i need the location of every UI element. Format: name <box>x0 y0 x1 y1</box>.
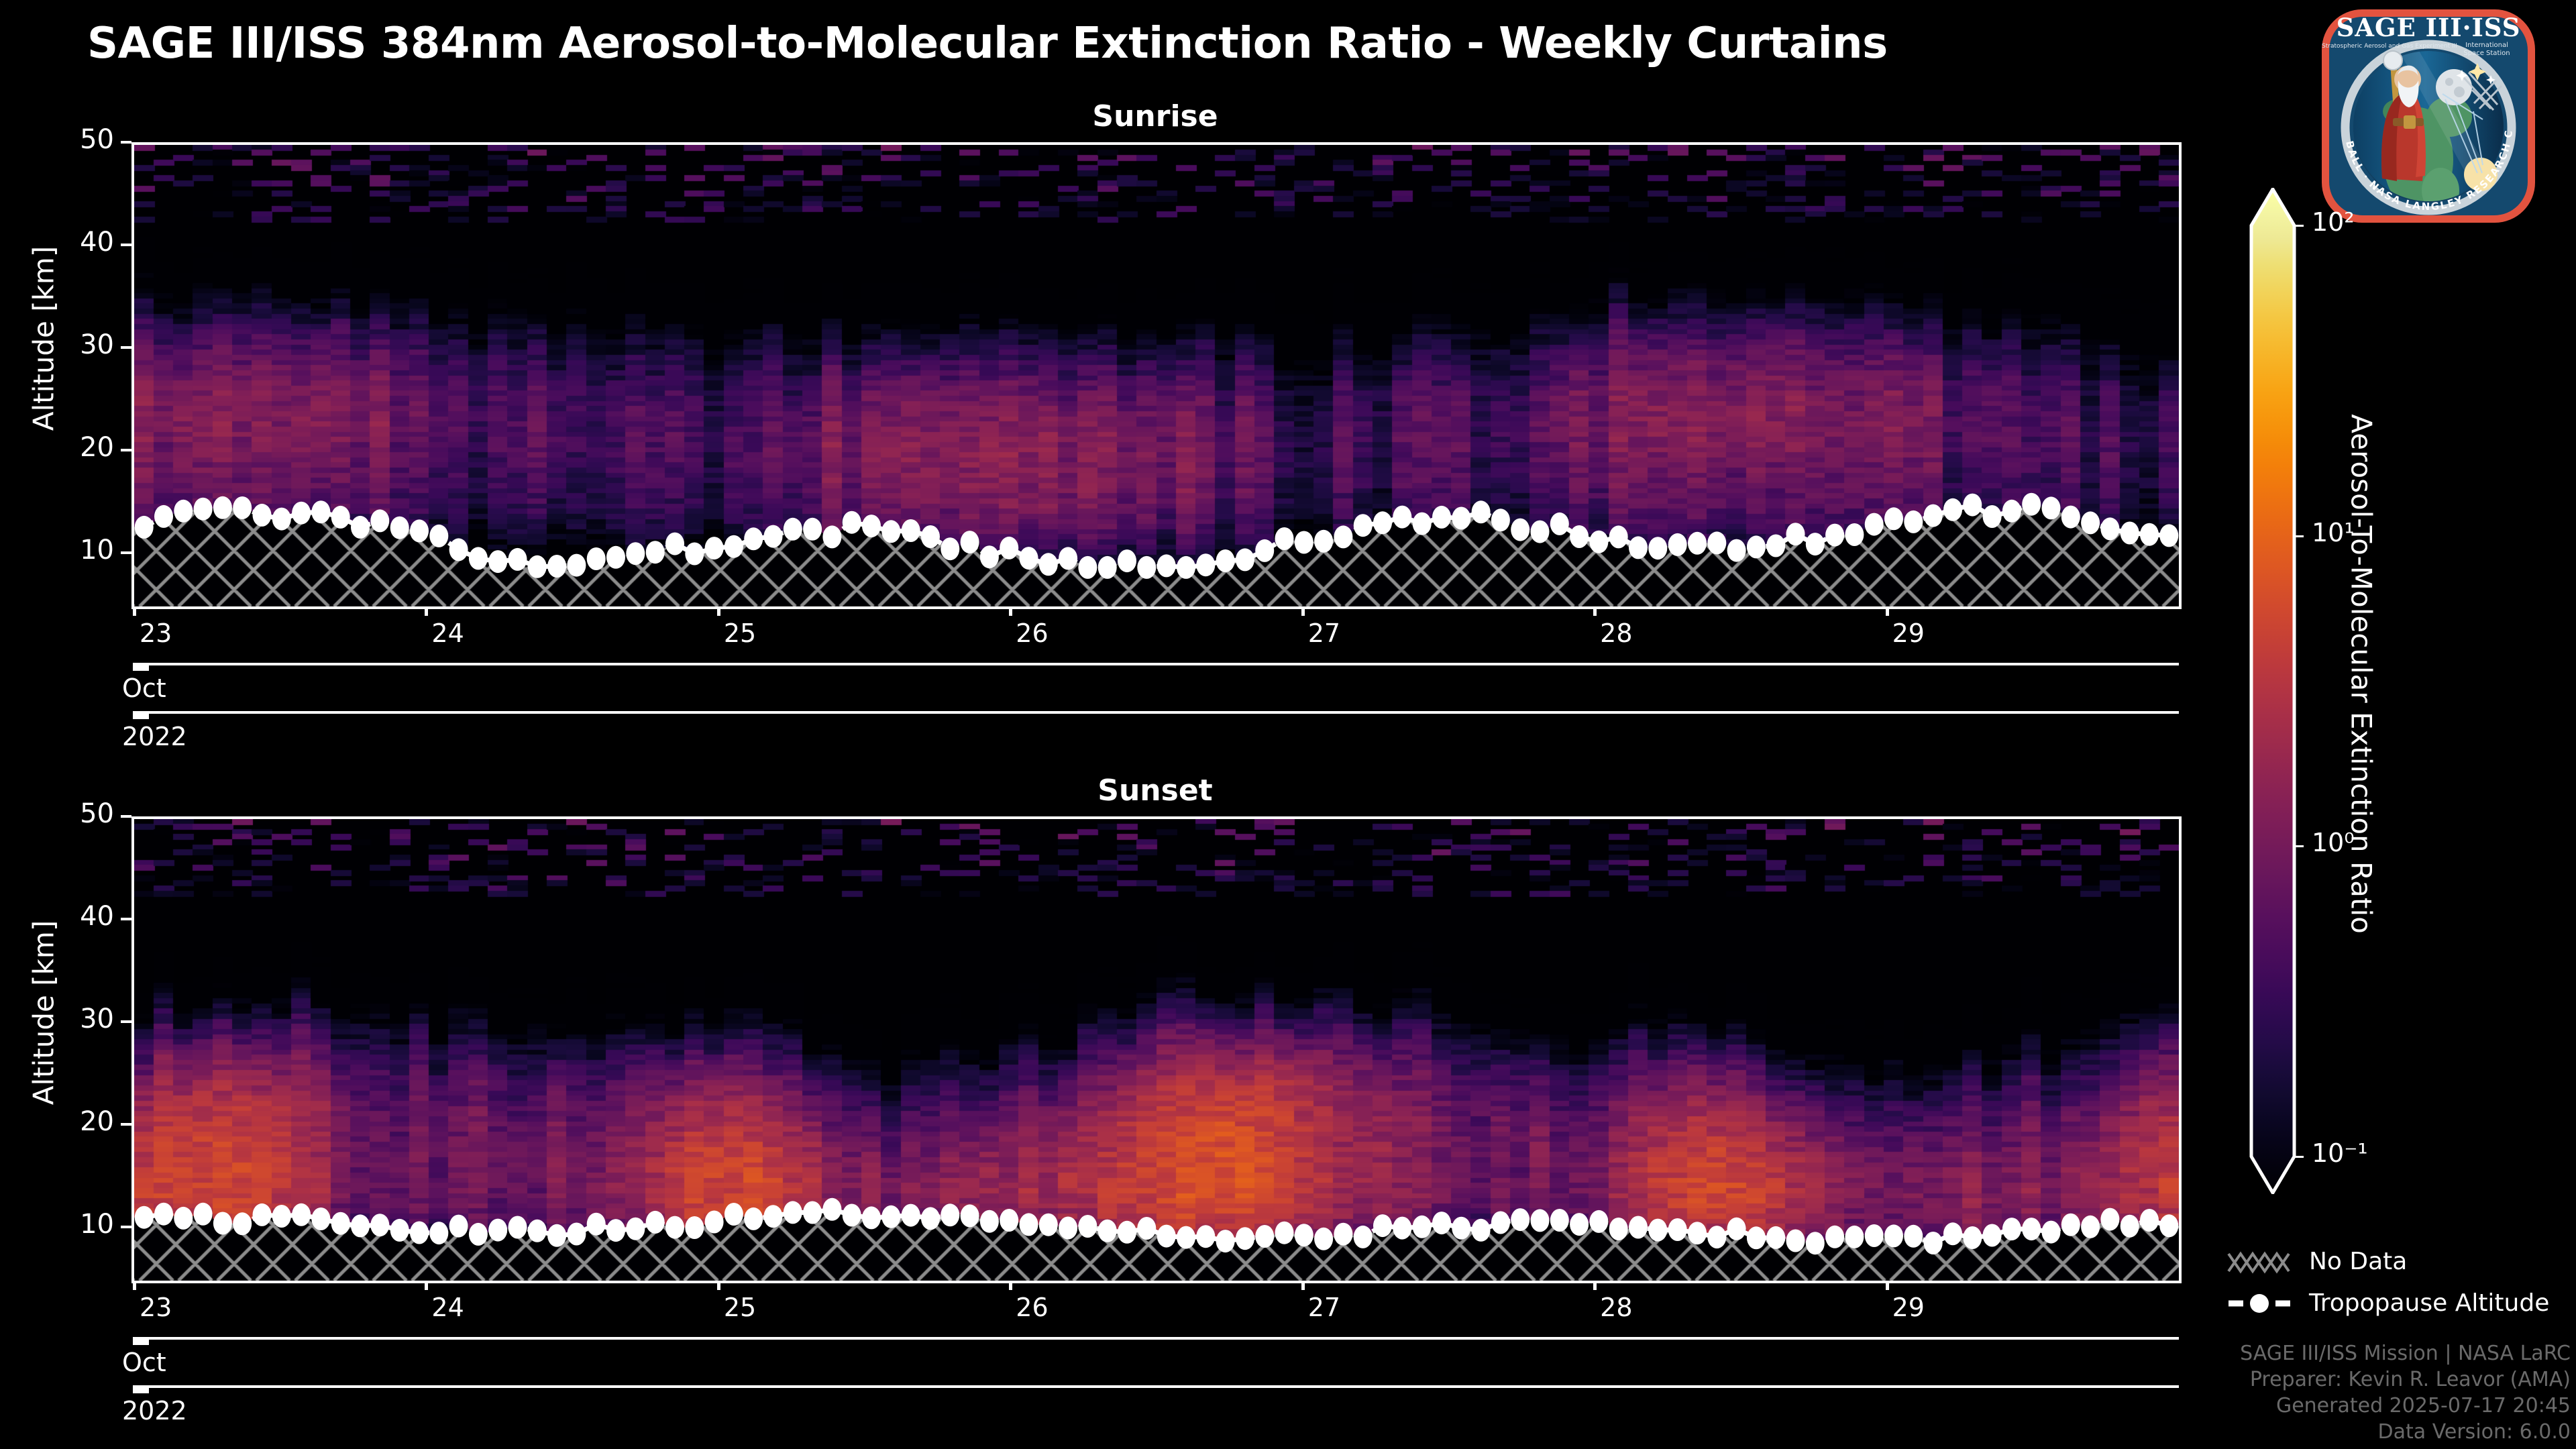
tropopause-marker <box>253 504 272 527</box>
tropopause-marker <box>2140 523 2159 546</box>
tropopause-marker <box>1550 1209 1569 1232</box>
tropopause-marker <box>469 1223 488 1246</box>
tropopause-marker <box>410 519 429 542</box>
x-tick-label-sunset-27: 27 <box>1308 1293 1340 1322</box>
tropopause-marker <box>1472 500 1491 523</box>
tropopause-marker <box>272 508 291 531</box>
x-tick-label-sunrise-25: 25 <box>724 619 756 648</box>
legend-item-no-data[interactable]: No Data <box>2227 1248 2407 1275</box>
y-tick-label-sunset-20: 20 <box>47 1106 114 1137</box>
tropopause-marker <box>784 518 802 541</box>
tropopause-marker <box>1314 1228 1333 1250</box>
tropopause-marker <box>705 537 724 559</box>
tropopause-marker <box>1531 1209 1550 1232</box>
tropopause-marker <box>1432 1212 1451 1234</box>
tropopause-marker <box>194 1203 213 1226</box>
year-band-label-sunset: 2022 <box>122 1396 187 1426</box>
tropopause-marker <box>233 1212 252 1235</box>
x-tick-mark-sunset-27 <box>1301 1281 1305 1290</box>
x-tick-mark-sunrise-26 <box>1009 606 1012 616</box>
tropopause-marker <box>1491 508 1510 531</box>
y-tick-mark-sunset-40 <box>121 918 131 920</box>
footer-line-generated: Generated 2025-07-17 20:45 <box>2240 1393 2571 1419</box>
tropopause-marker <box>1924 504 1943 527</box>
tropopause-marker <box>1747 535 1766 558</box>
tropopause-marker <box>1157 1225 1176 1248</box>
colorbar-body <box>2251 189 2294 1193</box>
legend: No Data Tropopause Altitude <box>2227 1248 2576 1335</box>
legend-label-tropopause: Tropopause Altitude <box>2309 1289 2549 1317</box>
x-tick-mark-sunrise-27 <box>1301 606 1305 616</box>
tropopause-marker <box>213 1212 232 1235</box>
tropopause-marker <box>567 554 586 577</box>
year-band-line-sunset <box>134 1385 2179 1388</box>
panel-sunset: Sunset Altitude [km] <box>0 761 2214 1311</box>
tropopause-marker <box>724 535 743 558</box>
y-tick-label-sunset-30: 30 <box>47 1004 114 1034</box>
x-tick-label-sunrise-23: 23 <box>140 619 172 648</box>
x-tick-mark-sunrise-25 <box>717 606 720 616</box>
tropopause-marker <box>1884 507 1903 530</box>
tropopause-marker <box>1491 1212 1510 1234</box>
tropopause-marker <box>1373 511 1392 534</box>
tropopause-marker <box>1039 553 1058 576</box>
tropopause-series-sunset <box>134 819 2179 1281</box>
tropopause-marker <box>1943 1222 1962 1245</box>
tropopause-marker <box>1314 530 1333 553</box>
tropopause-marker <box>1255 1225 1274 1248</box>
tropopause-marker <box>1963 494 1982 517</box>
tropopause-marker <box>1078 1215 1097 1238</box>
tropopause-marker <box>606 546 625 569</box>
footer-line-version: Data Version: 6.0.0 <box>2240 1419 2571 1445</box>
tropopause-marker <box>1963 1226 1982 1249</box>
tropopause-marker <box>1668 1218 1687 1241</box>
tropopause-marker <box>2140 1209 2159 1232</box>
tropopause-marker <box>941 537 959 560</box>
tropopause-marker <box>1118 549 1136 572</box>
tropopause-marker <box>1275 527 1294 550</box>
tropopause-marker <box>429 525 448 547</box>
tropopause-marker <box>1098 556 1117 579</box>
tropopause-marker <box>1550 513 1569 535</box>
tropopause-marker <box>1865 1224 1884 1247</box>
tropopause-marker <box>1825 1226 1844 1248</box>
tropopause-marker <box>1275 1222 1294 1244</box>
x-tick-label-sunrise-24: 24 <box>431 619 464 648</box>
tropopause-marker <box>744 1207 763 1230</box>
tropopause-marker <box>154 505 173 528</box>
tropopause-marker <box>390 517 409 539</box>
x-tick-label-sunset-24: 24 <box>431 1293 464 1322</box>
tropopause-marker <box>1589 531 1608 553</box>
tropopause-marker <box>331 1212 350 1235</box>
tropopause-marker <box>1806 533 1825 555</box>
tropopause-marker <box>941 1203 959 1226</box>
tropopause-marker <box>1196 553 1215 576</box>
tropopause-marker <box>646 1211 665 1234</box>
x-tick-mark-sunrise-29 <box>1886 606 1889 616</box>
tropopause-marker <box>1983 1224 2002 1247</box>
tropopause-marker <box>1609 525 1628 548</box>
tropopause-marker <box>587 1213 606 1236</box>
tropopause-marker <box>1000 537 1018 559</box>
tropopause-marker <box>1098 1220 1117 1242</box>
tropopause-marker <box>311 500 330 523</box>
tropopause-marker <box>449 1215 468 1238</box>
y-tick-mark-sunrise-10 <box>121 551 131 554</box>
tropopause-marker <box>2061 1214 2080 1236</box>
tropopause-marker <box>2100 517 2119 540</box>
colorbar: 10²10¹10⁰10⁻¹ Aerosol-To-Molecular Extin… <box>2234 188 2462 1194</box>
tropopause-marker <box>370 1214 389 1236</box>
tropopause-marker <box>1452 1217 1470 1240</box>
x-tick-label-sunset-23: 23 <box>140 1293 172 1322</box>
tropopause-marker <box>488 1219 507 1242</box>
tropopause-marker <box>1452 507 1470 530</box>
x-tick-label-sunset-26: 26 <box>1016 1293 1048 1322</box>
tropopause-marker <box>764 1205 783 1228</box>
tropopause-marker <box>233 496 252 519</box>
x-tick-mark-sunset-26 <box>1009 1281 1012 1290</box>
y-tick-label-sunrise-10: 10 <box>47 535 114 566</box>
tropopause-marker <box>1707 531 1726 554</box>
tropopause-marker <box>803 518 822 541</box>
colorbar-tick-label-0: 10² <box>2312 207 2355 237</box>
tropopause-marker <box>1806 1232 1825 1254</box>
tropopause-marker <box>1216 1230 1235 1252</box>
tropopause-marker <box>2159 1214 2178 1237</box>
tropopause-marker <box>1432 506 1451 529</box>
tropopause-marker <box>1078 556 1097 579</box>
y-tick-label-sunrise-50: 50 <box>47 124 114 155</box>
tropopause-marker <box>902 519 920 542</box>
tropopause-marker <box>1373 1214 1392 1237</box>
month-band-line-sunrise <box>134 663 2179 665</box>
tropopause-marker <box>665 533 684 555</box>
year-band-label-sunrise: 2022 <box>122 722 187 751</box>
tropopause-marker <box>1334 525 1352 548</box>
y-tick-label-sunset-40: 40 <box>47 901 114 932</box>
plot-area-sunrise[interactable] <box>131 142 2182 609</box>
tropopause-marker <box>784 1201 802 1224</box>
tropopause-marker <box>587 547 606 570</box>
month-band-tick-sunrise <box>133 663 149 671</box>
y-tick-mark-sunset-10 <box>121 1226 131 1228</box>
tropopause-marker <box>2121 522 2139 545</box>
tropopause-marker <box>685 543 704 566</box>
no-data-hatch-icon <box>2227 1248 2292 1275</box>
tropopause-marker <box>1786 523 1805 545</box>
tropopause-marker <box>1020 1213 1038 1236</box>
tropopause-marker <box>1924 1232 1943 1254</box>
x-tick-label-sunrise-26: 26 <box>1016 619 1048 648</box>
tropopause-marker <box>1196 1225 1215 1248</box>
year-band-tick-sunset <box>133 1385 149 1393</box>
tropopause-line-icon <box>2227 1290 2292 1317</box>
legend-item-tropopause[interactable]: Tropopause Altitude <box>2227 1289 2549 1317</box>
tropopause-marker <box>1570 1213 1589 1236</box>
tropopause-marker <box>508 1216 527 1239</box>
tropopause-marker <box>921 1207 940 1230</box>
tropopause-marker <box>351 1214 370 1237</box>
tropopause-marker <box>1825 524 1844 547</box>
tropopause-marker <box>351 516 370 539</box>
y-tick-label-sunset-50: 50 <box>47 798 114 829</box>
tropopause-marker <box>1727 539 1746 562</box>
tropopause-marker <box>1000 1209 1018 1232</box>
y-tick-mark-sunrise-20 <box>121 449 131 451</box>
y-tick-mark-sunset-20 <box>121 1123 131 1126</box>
tropopause-marker <box>843 511 861 534</box>
tropopause-marker <box>292 502 311 525</box>
tropopause-marker <box>2081 511 2100 534</box>
tropopause-marker <box>626 1218 645 1240</box>
tropopause-marker <box>1059 547 1077 570</box>
tropopause-marker <box>685 1216 704 1239</box>
tropopause-marker <box>1118 1221 1136 1244</box>
tropopause-marker <box>822 525 841 548</box>
tropopause-marker <box>1413 1216 1432 1238</box>
tropopause-marker <box>1648 1219 1667 1242</box>
tropopause-marker <box>253 1203 272 1226</box>
x-tick-label-sunset-25: 25 <box>724 1293 756 1322</box>
footer-line-preparer: Preparer: Kevin R. Leavor (AMA) <box>2240 1366 2571 1393</box>
tropopause-marker <box>1295 531 1313 554</box>
tropopause-marker <box>2100 1208 2119 1231</box>
tropopause-marker <box>1727 1218 1746 1240</box>
svg-text:Stratospheric Aerosol and Gas: Stratospheric Aerosol and Gas Experiment… <box>2322 43 2457 50</box>
tropopause-marker <box>1334 1223 1352 1246</box>
tropopause-marker <box>272 1205 291 1228</box>
tropopause-marker <box>390 1219 409 1242</box>
tropopause-marker <box>881 1205 900 1228</box>
x-tick-mark-sunrise-23 <box>133 606 136 616</box>
tropopause-marker <box>1157 554 1176 577</box>
tropopause-marker <box>1747 1226 1766 1249</box>
y-tick-mark-sunrise-30 <box>121 346 131 349</box>
tropopause-marker <box>154 1203 173 1226</box>
tropopause-marker <box>1648 537 1667 559</box>
x-tick-mark-sunset-28 <box>1593 1281 1597 1290</box>
x-tick-mark-sunset-29 <box>1886 1281 1889 1290</box>
tropopause-marker <box>469 547 488 570</box>
tropopause-marker <box>1884 1224 1903 1247</box>
tropopause-marker <box>567 1223 586 1246</box>
colorbar-tick-mark-3 <box>2294 1156 2304 1158</box>
tropopause-marker <box>528 555 547 578</box>
y-tick-mark-sunset-50 <box>121 815 131 818</box>
tropopause-marker <box>1589 1210 1608 1233</box>
tropopause-marker <box>1531 521 1550 543</box>
colorbar-tick-mark-1 <box>2294 535 2304 537</box>
tropopause-marker <box>980 545 999 568</box>
tropopause-marker <box>410 1222 429 1244</box>
tropopause-marker <box>1511 519 1529 541</box>
tropopause-marker <box>2159 524 2178 547</box>
colorbar-tick-mark-0 <box>2294 225 2304 227</box>
tropopause-marker <box>2002 500 2021 523</box>
tropopause-marker <box>194 498 213 521</box>
tropopause-marker <box>1629 536 1648 559</box>
tropopause-marker <box>2042 1221 2061 1244</box>
tropopause-marker <box>1413 513 1432 535</box>
page-title: SAGE III/ISS 384nm Aerosol-to-Molecular … <box>87 19 1888 68</box>
tropopause-marker <box>1177 1226 1195 1249</box>
tropopause-marker <box>2002 1218 2021 1240</box>
month-band-label-sunset: Oct <box>122 1348 166 1377</box>
tropopause-marker <box>1511 1208 1529 1231</box>
tropopause-marker <box>1137 1217 1156 1240</box>
x-tick-label-sunrise-27: 27 <box>1308 619 1340 648</box>
tropopause-marker <box>2022 1218 2041 1240</box>
x-tick-label-sunrise-29: 29 <box>1892 619 1925 648</box>
colorbar-tick-mark-2 <box>2294 845 2304 847</box>
month-band-tick-sunset <box>133 1337 149 1345</box>
tropopause-marker <box>2061 506 2080 529</box>
y-tick-label-sunrise-40: 40 <box>47 227 114 258</box>
tropopause-marker <box>1904 511 1923 533</box>
tropopause-marker <box>862 1206 881 1229</box>
tropopause-marker <box>665 1216 684 1239</box>
tropopause-marker <box>843 1204 861 1227</box>
tropopause-marker <box>135 1206 154 1229</box>
tropopause-marker <box>1983 505 2002 528</box>
plot-area-sunset[interactable] <box>131 816 2182 1283</box>
tropopause-marker <box>1786 1230 1805 1252</box>
tropopause-marker <box>980 1210 999 1233</box>
tropopause-marker <box>2121 1215 2139 1238</box>
tropopause-marker <box>822 1198 841 1221</box>
tropopause-marker <box>881 520 900 543</box>
tropopause-marker <box>370 509 389 532</box>
tropopause-marker <box>1766 1226 1785 1249</box>
tropopause-marker <box>961 531 979 553</box>
tropopause-marker <box>1668 533 1687 556</box>
panel-sunrise: Sunrise Altitude [km] <box>0 87 2214 637</box>
tropopause-marker <box>1393 1217 1411 1240</box>
tropopause-marker <box>528 1220 547 1242</box>
tropopause-marker <box>488 550 507 573</box>
y-tick-mark-sunrise-40 <box>121 244 131 246</box>
tropopause-marker <box>1236 1227 1254 1250</box>
svg-text:SAGE III·ISS: SAGE III·ISS <box>2337 13 2521 42</box>
legend-label-no-data: No Data <box>2309 1248 2407 1275</box>
tropopause-marker <box>1688 532 1707 555</box>
year-band-tick-sunrise <box>133 711 149 719</box>
tropopause-marker <box>1904 1225 1923 1248</box>
tropopause-marker <box>1609 1218 1628 1240</box>
tropopause-marker <box>135 516 154 539</box>
tropopause-marker <box>606 1219 625 1242</box>
x-tick-label-sunrise-28: 28 <box>1600 619 1632 648</box>
tropopause-marker <box>547 555 566 578</box>
tropopause-marker <box>1629 1216 1648 1239</box>
x-tick-mark-sunset-25 <box>717 1281 720 1290</box>
tropopause-marker <box>2081 1216 2100 1238</box>
tropopause-marker <box>646 541 665 563</box>
tropopause-marker <box>1845 1226 1864 1248</box>
tropopause-marker <box>1295 1224 1313 1246</box>
tropopause-marker <box>803 1201 822 1224</box>
panel-title-sunset: Sunset <box>131 773 2179 808</box>
tropopause-marker <box>174 1207 193 1230</box>
tropopause-marker <box>1236 548 1254 571</box>
tropopause-marker <box>921 525 940 548</box>
tropopause-marker <box>764 525 783 548</box>
x-tick-label-sunset-29: 29 <box>1892 1293 1925 1322</box>
tropopause-marker <box>1137 556 1156 579</box>
tropopause-marker <box>547 1224 566 1247</box>
tropopause-marker <box>449 538 468 561</box>
tropopause-marker <box>1039 1214 1058 1236</box>
y-tick-label-sunrise-20: 20 <box>47 432 114 463</box>
tropopause-marker <box>1707 1226 1726 1248</box>
x-tick-label-sunset-28: 28 <box>1600 1293 1632 1322</box>
colorbar-axis-label: Aerosol-To-Molecular Extinction Ratio <box>2345 339 2378 1010</box>
x-tick-mark-sunrise-24 <box>425 606 428 616</box>
tropopause-marker <box>311 1207 330 1230</box>
x-tick-mark-sunrise-28 <box>1593 606 1597 616</box>
tropopause-marker <box>1845 523 1864 546</box>
tropopause-marker <box>902 1204 920 1227</box>
panel-title-sunrise: Sunrise <box>131 99 2179 133</box>
svg-text:International: International <box>2465 42 2508 49</box>
tropopause-marker <box>213 496 232 519</box>
footer-line-mission: SAGE III/ISS Mission | NASA LaRC <box>2240 1340 2571 1366</box>
year-band-line-sunrise <box>134 711 2179 714</box>
tropopause-marker <box>2022 493 2041 516</box>
tropopause-marker <box>2042 496 2061 519</box>
month-band-label-sunrise: Oct <box>122 674 166 703</box>
x-tick-mark-sunset-24 <box>425 1281 428 1290</box>
colorbar-gradient <box>2234 188 2328 1194</box>
tropopause-marker <box>1688 1222 1707 1244</box>
tropopause-marker <box>1354 1226 1373 1248</box>
tropopause-marker <box>1255 539 1274 562</box>
tropopause-marker <box>705 1211 724 1234</box>
tropopause-marker <box>1354 514 1373 537</box>
tropopause-marker <box>429 1222 448 1244</box>
tropopause-marker <box>961 1204 979 1227</box>
tropopause-marker <box>292 1203 311 1226</box>
tropopause-marker <box>1943 498 1962 521</box>
y-tick-mark-sunrise-50 <box>121 141 131 144</box>
svg-text:Space Station: Space Station <box>2463 50 2510 57</box>
tropopause-marker <box>1177 556 1195 579</box>
tropopause-series-sunrise <box>134 145 2179 606</box>
tropopause-marker <box>1766 535 1785 557</box>
tropopause-marker <box>1865 513 1884 536</box>
tropopause-marker <box>862 515 881 537</box>
tropopause-marker <box>508 548 527 571</box>
tropopause-marker <box>744 527 763 550</box>
tropopause-marker <box>724 1203 743 1226</box>
tropopause-marker <box>1472 1219 1491 1242</box>
tropopause-marker <box>1020 547 1038 570</box>
tropopause-marker <box>1059 1217 1077 1240</box>
tropopause-marker <box>1393 506 1411 529</box>
y-tick-label-sunrise-30: 30 <box>47 329 114 360</box>
colorbar-tick-label-3: 10⁻¹ <box>2312 1138 2368 1168</box>
y-tick-mark-sunset-30 <box>121 1020 131 1023</box>
month-band-line-sunset <box>134 1337 2179 1340</box>
tropopause-marker <box>1216 549 1235 572</box>
tropopause-marker <box>174 500 193 523</box>
tropopause-marker <box>331 506 350 529</box>
footer-credits: SAGE III/ISS Mission | NASA LaRC Prepare… <box>2240 1340 2571 1445</box>
y-tick-label-sunset-10: 10 <box>47 1209 114 1240</box>
